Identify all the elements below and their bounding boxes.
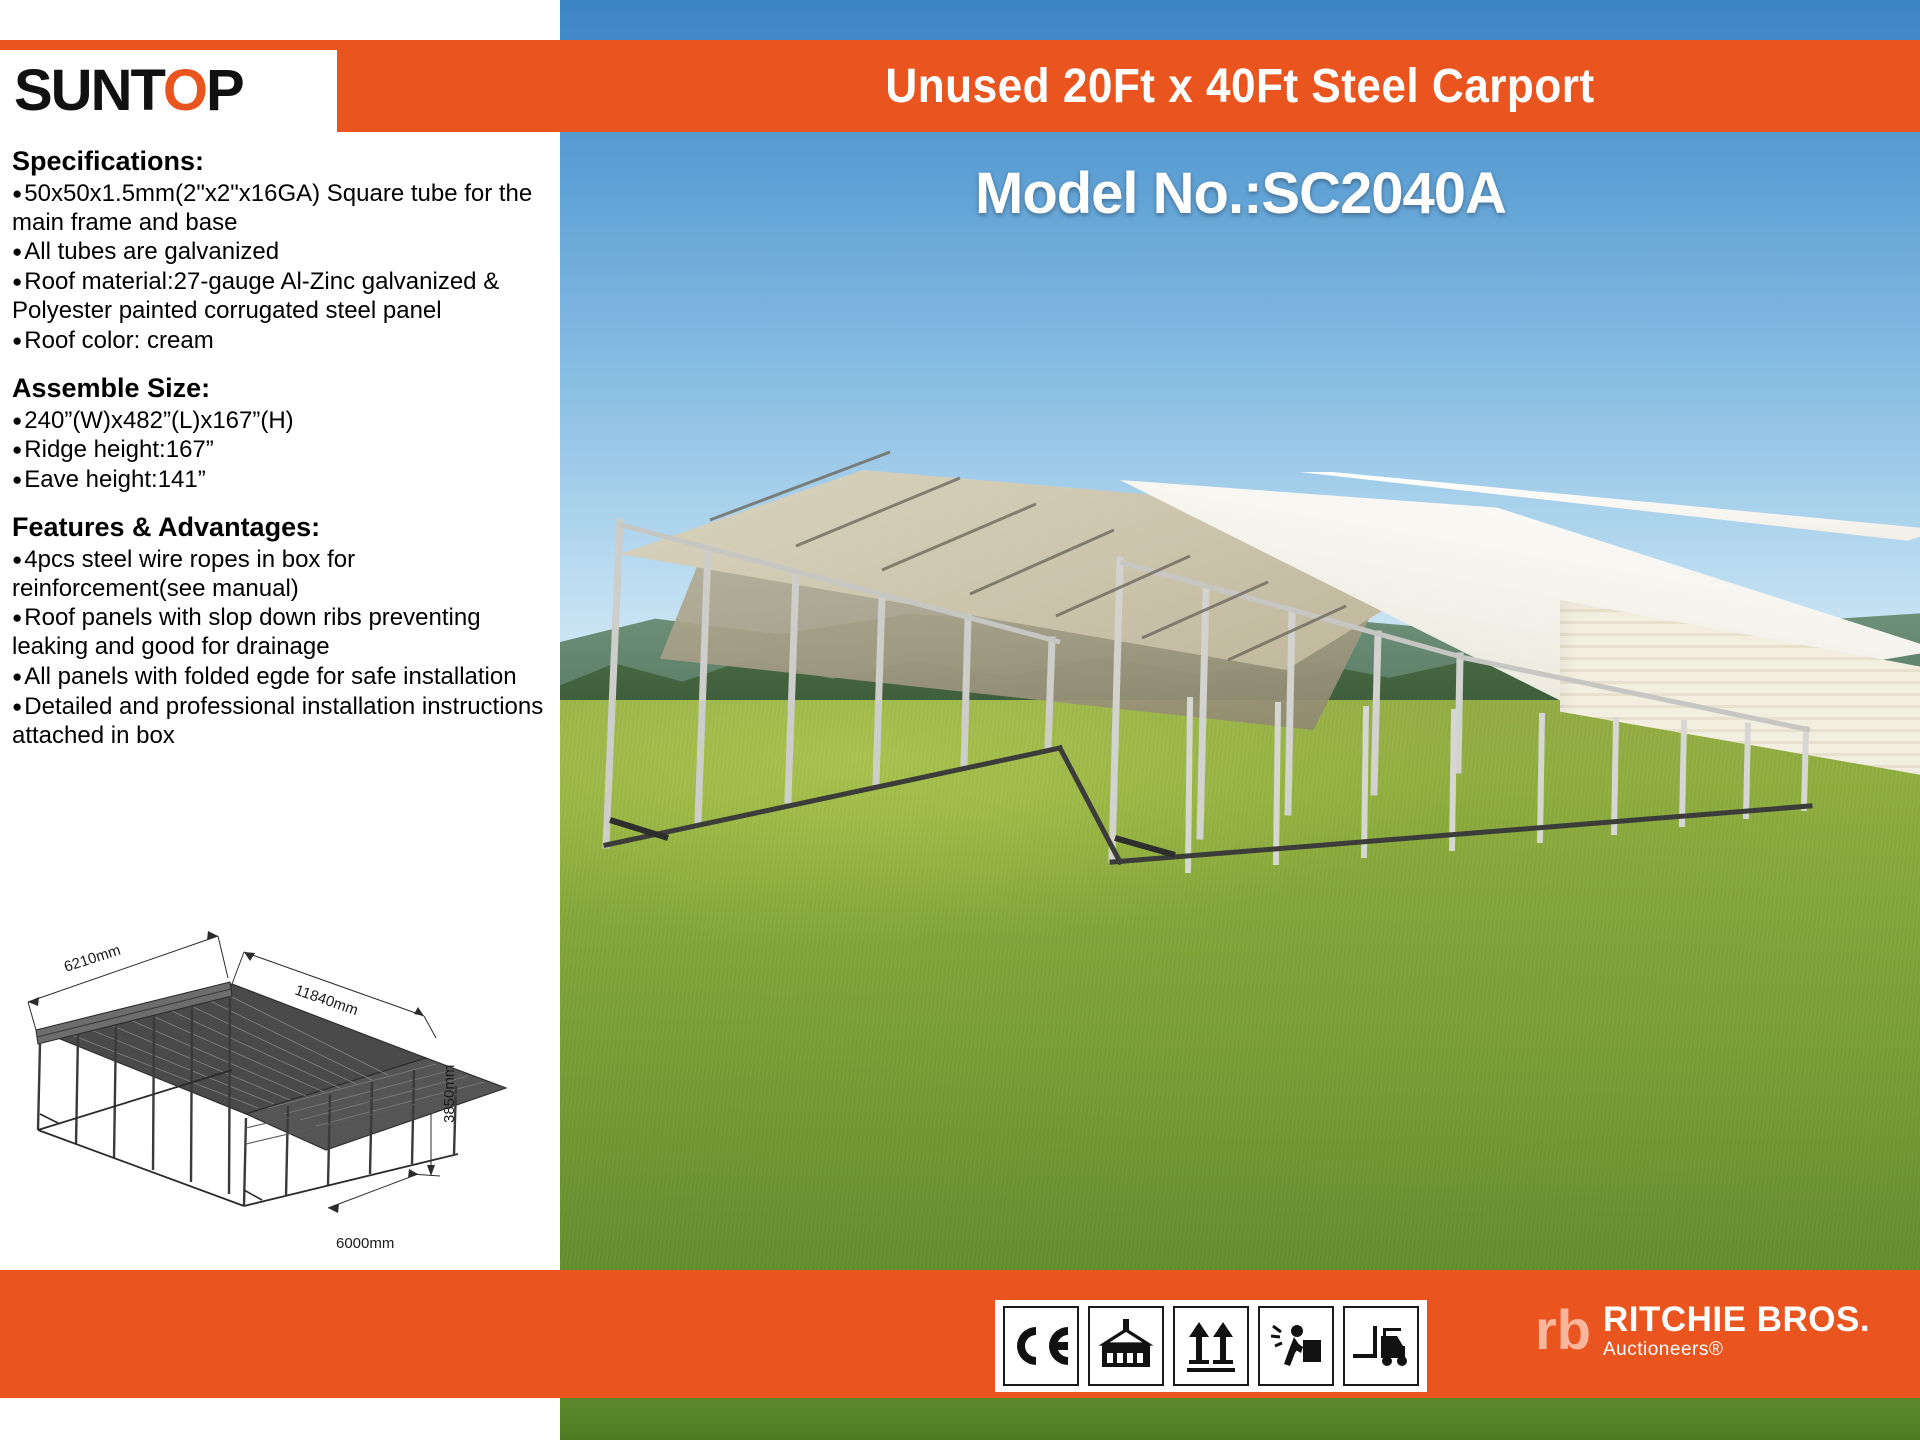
bottom-grass-strip: [560, 1398, 1920, 1440]
logo-part-sunt: SUNT: [14, 58, 163, 123]
list-item: 50x50x1.5mm(2"x2"x16GA) Square tube for …: [12, 180, 550, 238]
features-heading: Features & Advantages:: [12, 512, 550, 544]
list-item: Roof panels with slop down ribs preventi…: [12, 604, 550, 662]
specifications-list: 50x50x1.5mm(2"x2"x16GA) Square tube for …: [12, 180, 550, 356]
list-item: 240”(W)x482”(L)x167”(H): [12, 407, 550, 436]
container-sling-icon: [1088, 1306, 1164, 1386]
list-item: 4pcs steel wire ropes in box for reinfor…: [12, 546, 550, 604]
rb-company-name: RITCHIE BROS.: [1603, 1302, 1870, 1337]
footer-left-block: [0, 1270, 560, 1398]
list-item: All panels with folded egde for safe ins…: [12, 663, 550, 692]
product-listing-image: Model No.:SC2040A Unused 20Ft x 40Ft Ste…: [0, 0, 1920, 1440]
features-list: 4pcs steel wire ropes in box for reinfor…: [12, 546, 550, 751]
packaging-icons: [995, 1300, 1427, 1392]
logo-part-o: O: [163, 58, 206, 123]
list-item: Roof material:27-gauge Al-Zinc galvanize…: [12, 268, 550, 326]
product-photo: Model No.:SC2040A: [560, 0, 1920, 1440]
rb-tagline: Auctioneers®: [1603, 1340, 1870, 1359]
list-item: Eave height:141”: [12, 466, 550, 495]
ritchie-bros-logo: rb RITCHIE BROS. Auctioneers®: [1535, 1302, 1870, 1359]
list-item: Ridge height:167”: [12, 436, 550, 465]
rb-wordmark: RITCHIE BROS. Auctioneers®: [1603, 1302, 1870, 1359]
top-white-margin: [0, 0, 560, 40]
technical-drawing: 6210mm 11840mm 6000mm 3850mm: [6, 918, 554, 1266]
list-item: Detailed and professional installation i…: [12, 693, 550, 751]
this-way-up-icon: [1173, 1306, 1249, 1386]
technical-drawing-svg: 6210mm 11840mm 6000mm 3850mm: [6, 918, 554, 1266]
rb-monogram: rb: [1535, 1305, 1591, 1355]
list-item: Roof color: cream: [12, 327, 550, 356]
brand-logo-text: SUNTOP: [0, 62, 243, 120]
assemble-size-heading: Assemble Size:: [12, 373, 550, 405]
page-title: Unused 20Ft x 40Ft Steel Carport: [614, 40, 1865, 132]
ce-mark-icon: [1003, 1306, 1079, 1386]
list-item: All tubes are galvanized: [12, 238, 550, 267]
brand-logo: SUNTOP: [0, 50, 337, 132]
dim-label-width-bottom: 6000mm: [336, 1235, 394, 1252]
specifications-heading: Specifications:: [12, 146, 550, 178]
model-number-label: Model No.:SC2040A: [975, 160, 1506, 227]
handle-with-care-icon: [1258, 1306, 1334, 1386]
forklift-icon: [1343, 1306, 1419, 1386]
dim-label-height: 3850mm: [441, 1065, 458, 1123]
logo-part-p: P: [206, 58, 243, 123]
assemble-size-list: 240”(W)x482”(L)x167”(H) Ridge height:167…: [12, 407, 550, 495]
dim-label-width-top: 6210mm: [62, 942, 123, 976]
